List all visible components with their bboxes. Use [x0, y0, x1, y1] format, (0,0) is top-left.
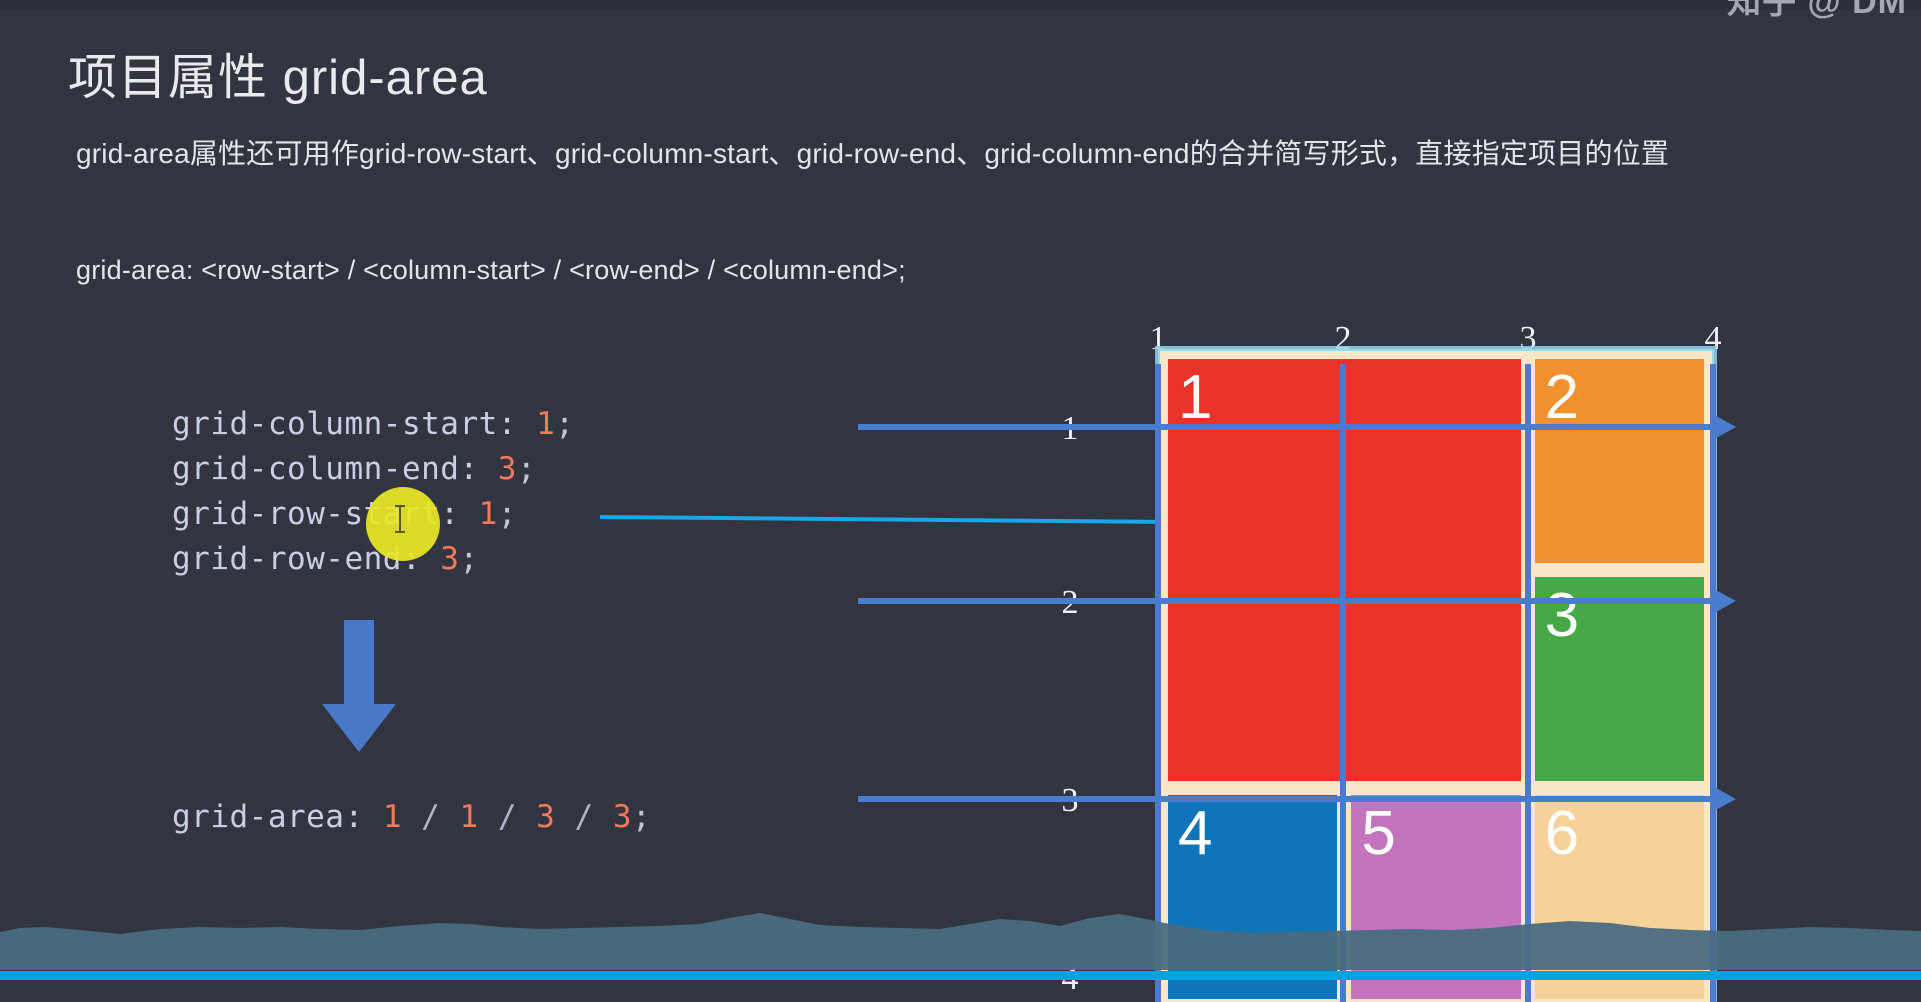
code-value: 1: [479, 496, 498, 532]
code-block-shorthand: grid-area: 1 / 1 / 3 / 3;: [172, 795, 651, 840]
grid-item-label: 3: [1545, 585, 1579, 647]
grid-line-horizontal-3: [858, 796, 1718, 802]
grid-item-label: 1: [1178, 367, 1212, 429]
slide-syntax-line: grid-area: <row-start> / <column-start> …: [76, 255, 906, 286]
code-value: 1: [536, 406, 555, 442]
text-cursor-icon: [399, 505, 401, 533]
code-semicolon: ;: [517, 451, 536, 487]
code-value-2: 1: [459, 799, 478, 835]
code-semicolon: ;: [498, 496, 517, 532]
grid-item-label: 2: [1545, 367, 1579, 429]
video-player-chrome: [0, 890, 1921, 1002]
grid-item-label: 4: [1178, 803, 1212, 865]
code-line-column-start: grid-column-start: 1;: [172, 402, 574, 447]
code-semicolon: ;: [459, 541, 478, 577]
code-sep-3: /: [555, 799, 613, 835]
slide-title: 项目属性 grid-area: [68, 38, 488, 109]
video-progress-bar[interactable]: [0, 971, 1921, 980]
grid-item-3: 3: [1535, 577, 1704, 781]
audio-waveform: [0, 910, 1921, 970]
code-prop: grid-area:: [172, 799, 383, 835]
code-value: 3: [498, 451, 517, 487]
watermark-label: 知乎 @ DM: [1727, 0, 1907, 23]
code-semicolon: ;: [632, 799, 651, 835]
code-value-1: 1: [383, 799, 402, 835]
slide-canvas: 知乎 @ DM 项目属性 grid-area grid-area属性还可用作gr…: [0, 0, 1921, 1002]
slide-description: grid-area属性还可用作grid-row-start、grid-colum…: [76, 134, 1766, 174]
down-arrow-icon: [322, 620, 396, 752]
code-value-3: 3: [536, 799, 555, 835]
code-sep-1: /: [402, 799, 460, 835]
cursor-highlight-halo: [366, 487, 440, 561]
grid-item-label: 5: [1361, 803, 1395, 865]
grid-item-2: 2: [1535, 359, 1704, 563]
code-line-column-end: grid-column-end: 3;: [172, 447, 574, 492]
code-semicolon: ;: [555, 406, 574, 442]
code-prop: grid-column-start:: [172, 406, 536, 442]
grid-line-horizontal-1: [858, 424, 1718, 430]
code-block-longhand: grid-column-start: 1; grid-column-end: 3…: [172, 402, 574, 582]
code-prop: grid-column-end:: [172, 451, 498, 487]
code-value-4: 3: [613, 799, 632, 835]
top-letterbox-strip: [0, 0, 1921, 10]
code-value: 3: [440, 541, 459, 577]
code-line-grid-area: grid-area: 1 / 1 / 3 / 3;: [172, 795, 651, 840]
grid-line-horizontal-2: [858, 598, 1718, 604]
grid-item-label: 6: [1545, 803, 1579, 865]
code-sep-2: /: [479, 799, 537, 835]
